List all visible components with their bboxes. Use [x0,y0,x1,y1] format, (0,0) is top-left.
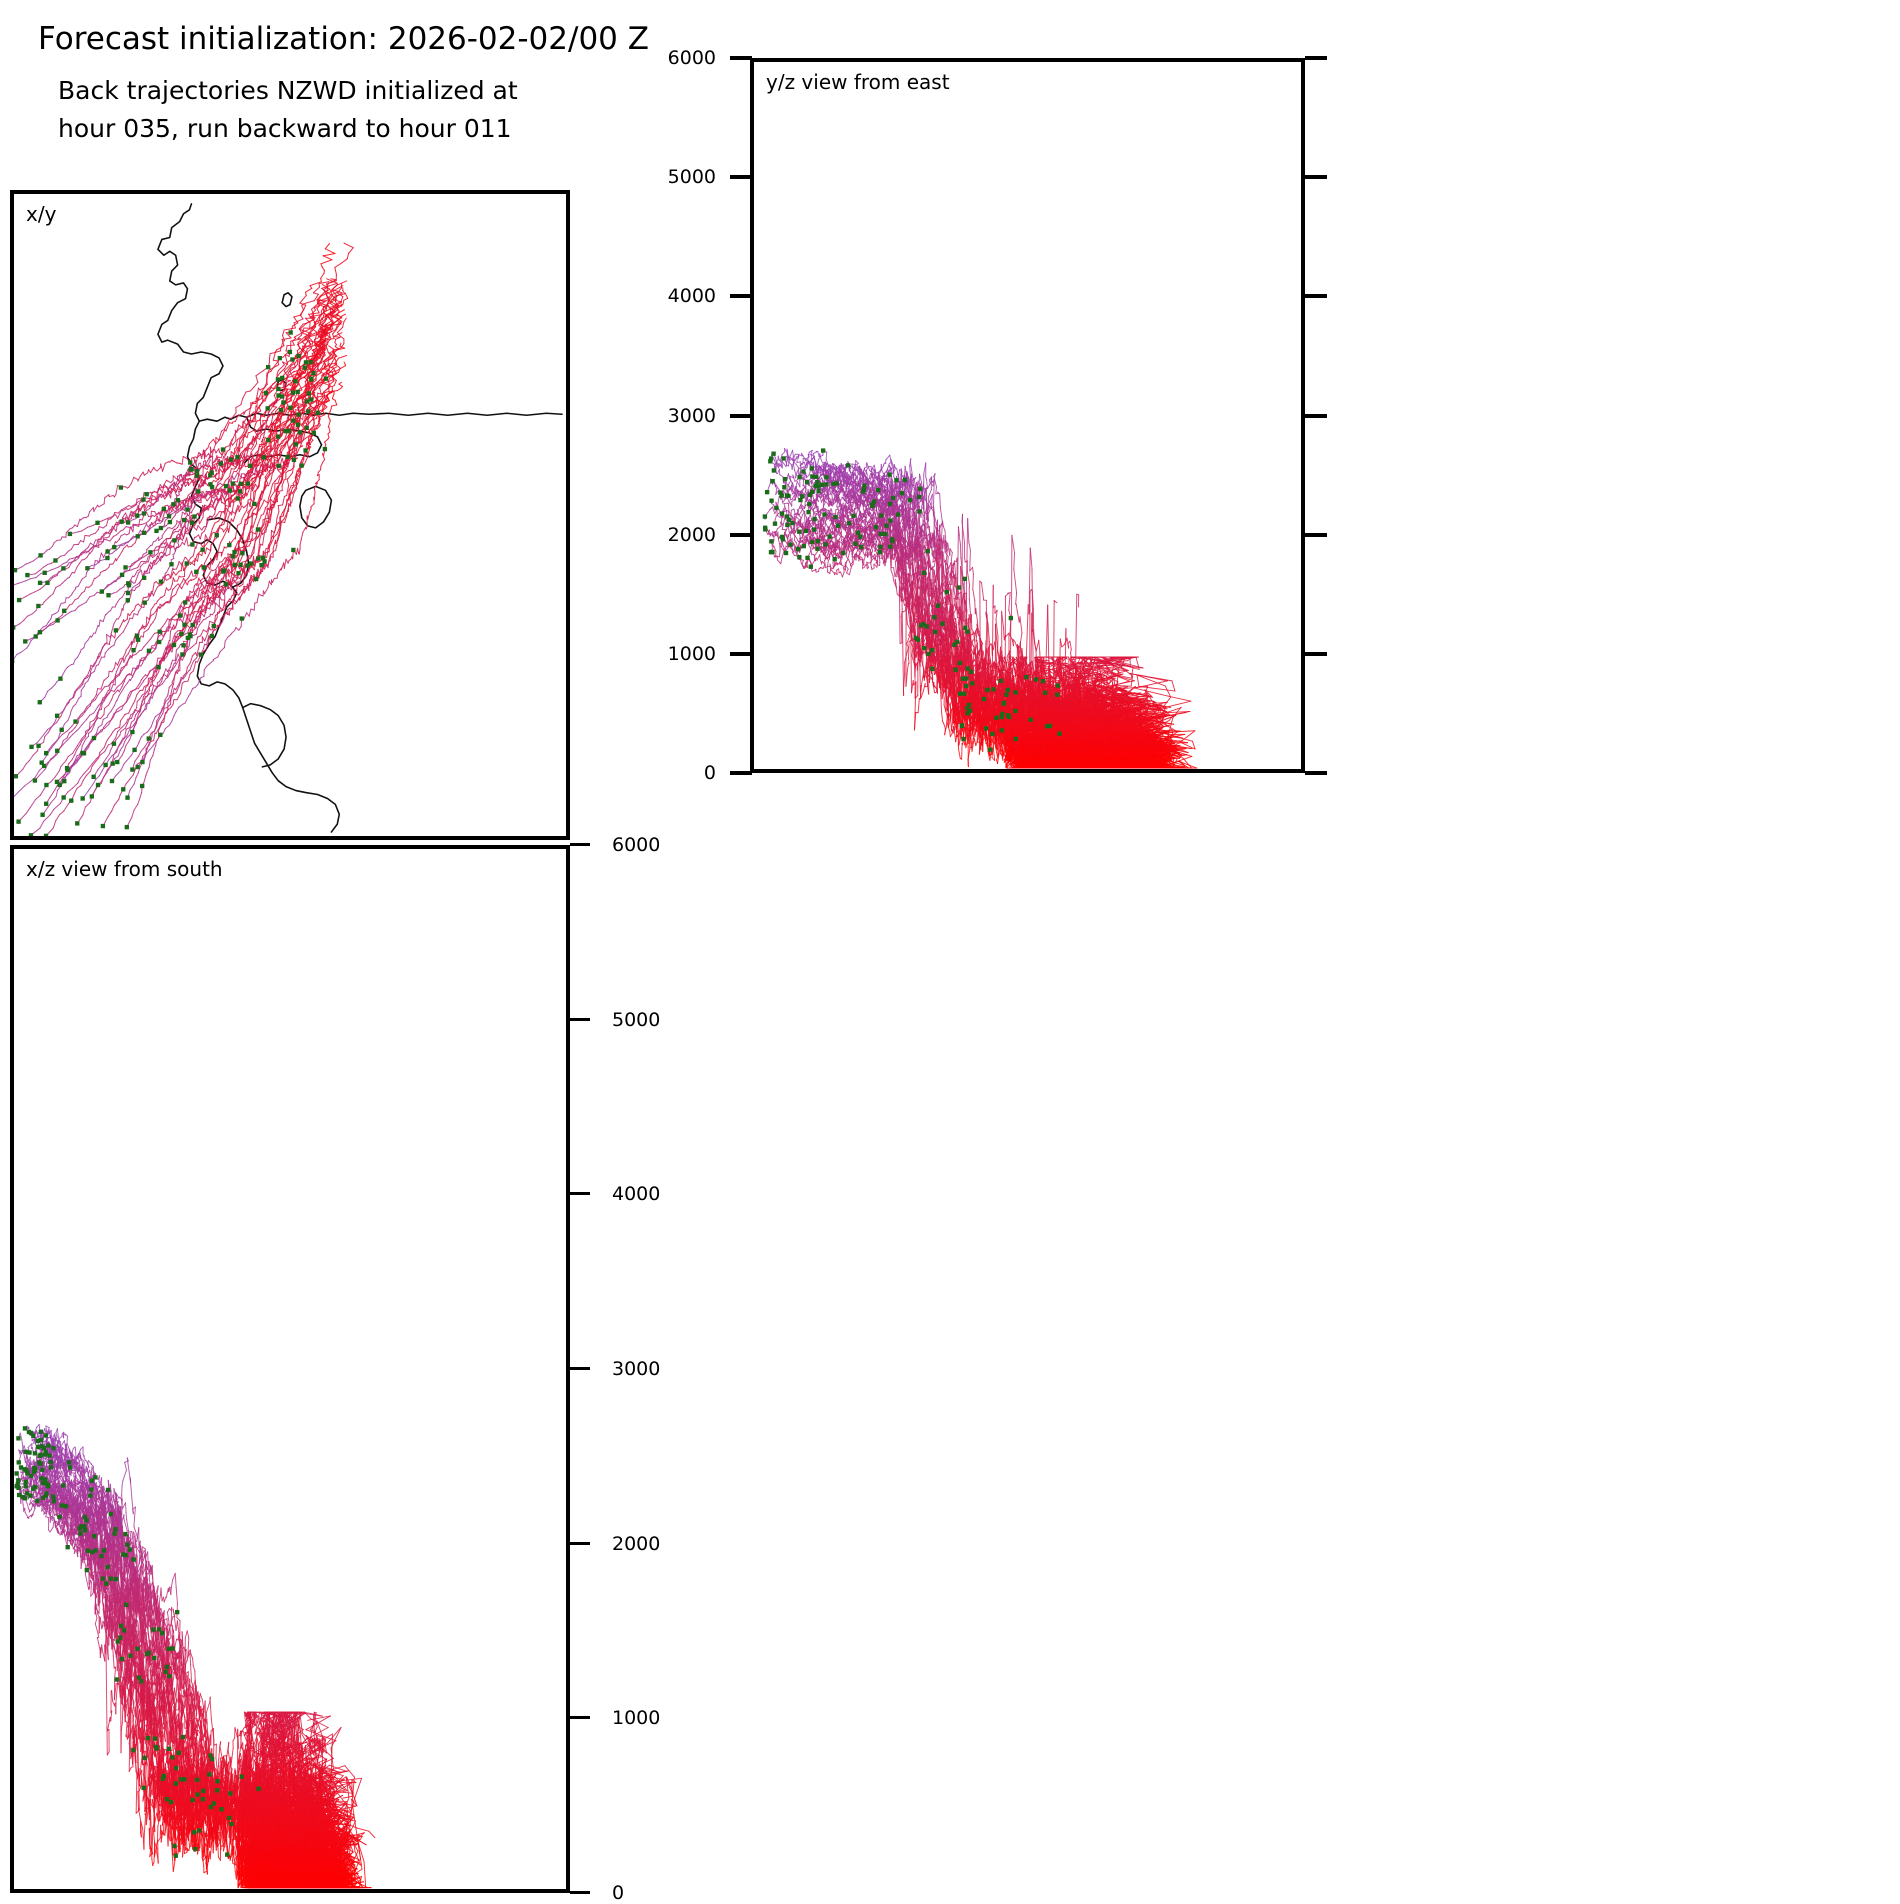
axis-tick-mark [1305,414,1327,418]
axis-tick-label: 6000 [612,834,660,856]
axis-tick-label: 0 [704,762,716,784]
panel-yz-axis-right [1305,58,1333,773]
axis-tick-mark [1305,652,1327,656]
axis-tick-label: 4000 [612,1183,660,1205]
axis-tick-label: 5000 [612,1009,660,1031]
panel-xz-label: x/z view from south [26,857,223,881]
panel-xz-axis-right: 0100020003000400050006000 [570,845,700,1893]
axis-tick-mark [1305,771,1327,775]
axis-tick-mark [570,1542,590,1545]
axis-tick-label: 5000 [668,166,716,188]
panel-xy[interactable]: x/y [10,190,570,840]
axis-tick-mark [570,1018,590,1021]
axis-tick-mark [730,533,752,537]
axis-tick-mark [730,414,752,418]
axis-tick-mark [570,843,590,846]
panel-yz[interactable]: y/z view from east [750,58,1305,773]
axis-tick-mark [1305,56,1327,60]
axis-tick-label: 2000 [612,1533,660,1555]
page-title: Forecast initialization: 2026-02-02/00 Z [38,20,649,58]
axis-tick-mark [570,1716,590,1719]
axis-tick-mark [730,771,752,775]
axis-tick-label: 1000 [668,643,716,665]
panel-yz-plot [754,62,1301,769]
axis-tick-label: 3000 [668,405,716,427]
panel-yz-axis-left: 0100020003000400050006000 [660,58,752,773]
axis-tick-mark [730,175,752,179]
axis-tick-label: 6000 [668,47,716,69]
panel-xy-plot [14,194,566,836]
axis-tick-label: 2000 [668,524,716,546]
axis-tick-label: 0 [612,1882,624,1904]
axis-tick-label: 4000 [668,285,716,307]
panel-xz-plot [14,849,566,1889]
axis-tick-mark [570,1367,590,1370]
panel-xy-label: x/y [26,202,56,226]
axis-tick-label: 3000 [612,1358,660,1380]
axis-tick-mark [730,294,752,298]
axis-tick-label: 1000 [612,1707,660,1729]
axis-tick-mark [730,56,752,60]
panel-xz[interactable]: x/z view from south [10,845,570,1893]
axis-tick-mark [1305,533,1327,537]
axis-tick-mark [570,1891,590,1894]
panel-yz-label: y/z view from east [766,70,950,94]
axis-tick-mark [1305,294,1327,298]
axis-tick-mark [730,652,752,656]
axis-tick-mark [1305,175,1327,179]
axis-tick-mark [570,1192,590,1195]
page-subtitle: Back trajectories NZWD initialized at ho… [58,72,518,148]
